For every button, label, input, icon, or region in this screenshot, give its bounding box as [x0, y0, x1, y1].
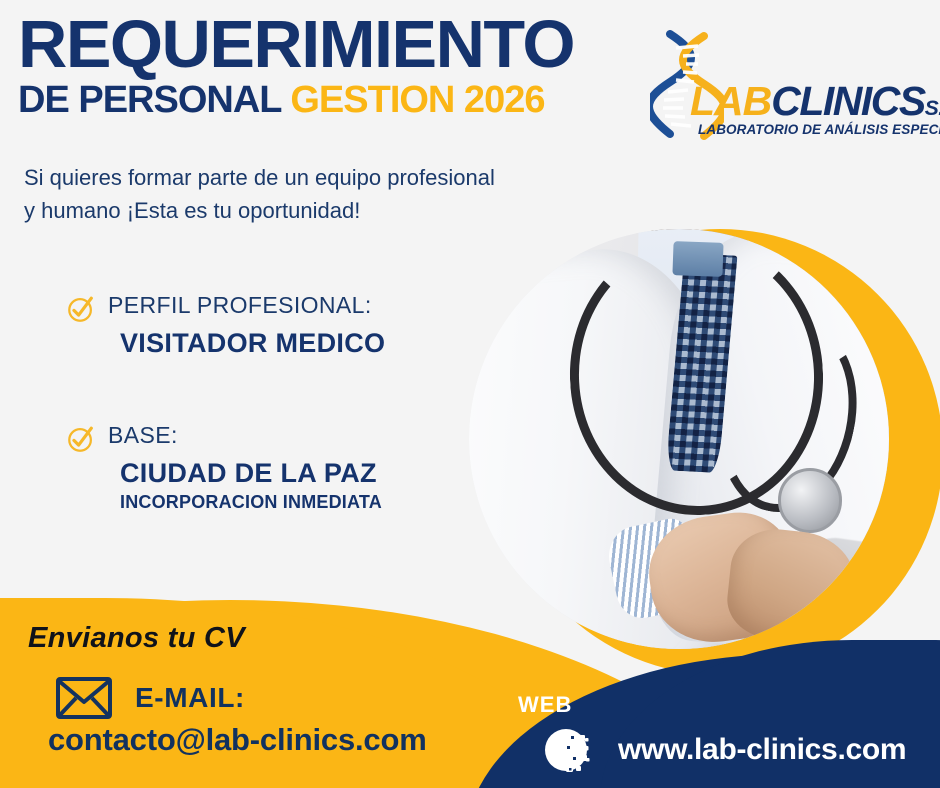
- web-label: WEB: [518, 692, 572, 718]
- check-circle-icon: [66, 294, 96, 324]
- bullet-value: CIUDAD DE LA PAZ: [120, 458, 382, 489]
- intro-line-1: Si quieres formar parte de un equipo pro…: [24, 162, 495, 195]
- company-logo: LABCLINICSS.R.L. LABORATORIO DE ANÁLISIS…: [650, 30, 932, 150]
- bullet-header-row: PERFIL PROFESIONAL:: [66, 292, 385, 324]
- send-cv-title: Envianos tu CV: [28, 622, 245, 655]
- bullet-header-row: BASE:: [66, 422, 382, 454]
- envelope-icon: [55, 676, 113, 720]
- website-url[interactable]: www.lab-clinics.com: [618, 733, 906, 767]
- photo-stethoscope-chestpiece: [778, 468, 843, 533]
- email-address[interactable]: contacto@lab-clinics.com: [48, 722, 427, 758]
- website-row[interactable]: www.lab-clinics.com: [540, 722, 906, 778]
- subtitle-dark: DE PERSONAL: [18, 79, 281, 121]
- doctor-handshake-photo: [469, 229, 889, 649]
- email-row: E-MAIL:: [55, 676, 245, 720]
- bullet-value: VISITADOR MEDICO: [120, 328, 385, 359]
- bullet-label: PERFIL PROFESIONAL:: [108, 292, 372, 318]
- bullet-base: BASE: CIUDAD DE LA PAZ INCORPORACION INM…: [66, 422, 382, 513]
- bullet-subtext: INCORPORACION INMEDIATA: [120, 492, 382, 513]
- intro-line-2: y humano ¡Esta es tu oportunidad!: [24, 195, 495, 228]
- headline-block: REQUERIMIENTO DE PERSONAL GESTION 2026: [18, 16, 638, 119]
- subtitle-year: GESTION 2026: [290, 79, 544, 121]
- recruitment-poster: REQUERIMIENTO DE PERSONAL GESTION 2026: [0, 0, 940, 788]
- logo-srl-text: S.R.L.: [925, 97, 940, 120]
- intro-text: Si quieres formar parte de un equipo pro…: [24, 162, 495, 227]
- photo-composition: [469, 229, 889, 649]
- logo-clinics-text: CLINICS: [771, 78, 925, 124]
- globe-pixel-icon: [540, 722, 596, 778]
- check-circle-icon: [66, 424, 96, 454]
- subtitle-line: DE PERSONAL GESTION 2026: [18, 81, 638, 119]
- logo-tagline: LABORATORIO DE ANÁLISIS ESPECIALIZADOS: [698, 122, 940, 137]
- bullet-perfil-profesional: PERFIL PROFESIONAL: VISITADOR MEDICO: [66, 292, 385, 359]
- bullet-label: BASE:: [108, 422, 178, 448]
- email-label: E-MAIL:: [135, 682, 245, 714]
- logo-wordmark: LABCLINICSS.R.L.: [690, 78, 940, 125]
- logo-lab-text: LAB: [690, 78, 771, 124]
- page-title: REQUERIMIENTO: [18, 16, 650, 75]
